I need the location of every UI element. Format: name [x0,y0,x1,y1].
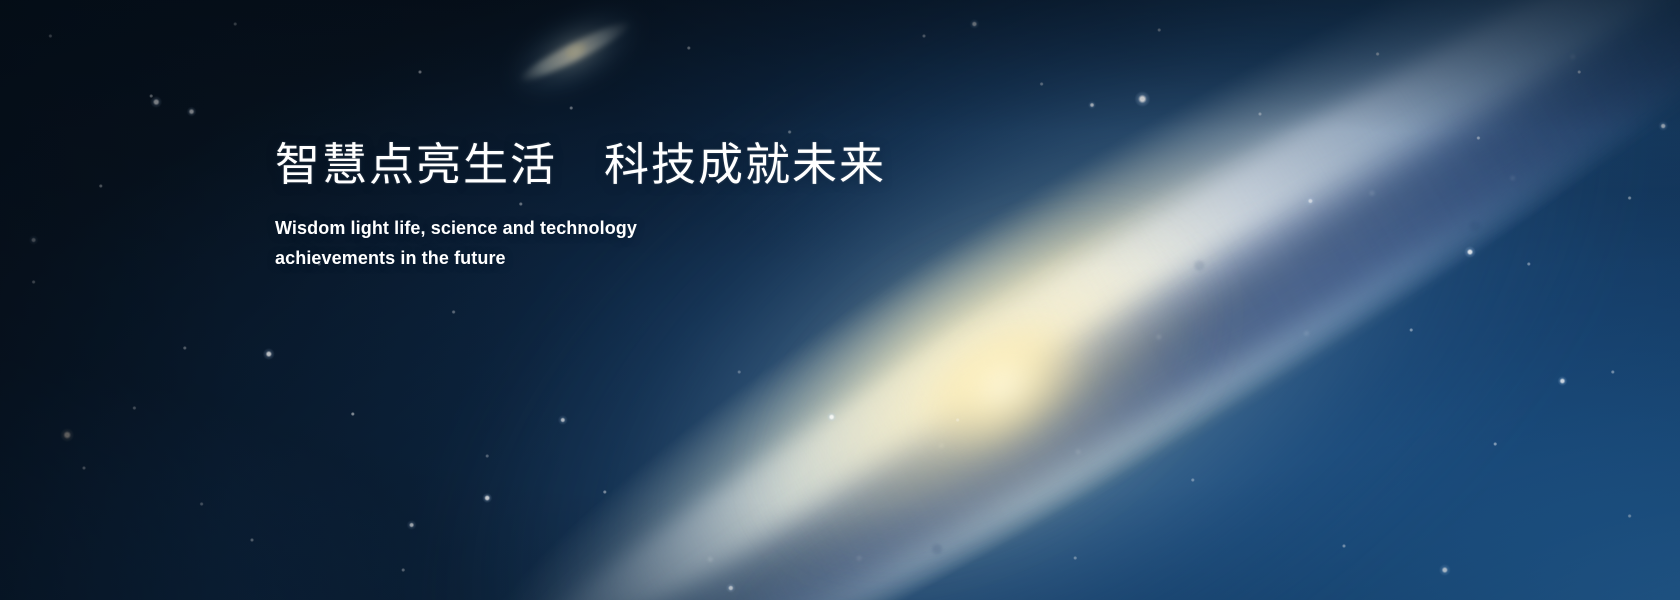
banner-copy: 智慧点亮生活 科技成就未来 Wisdom light life, science… [275,138,1035,273]
banner-subtitle: Wisdom light life, science and technolog… [275,213,665,273]
banner-headline: 智慧点亮生活 科技成就未来 [275,138,1035,193]
sky-vignette [0,0,1680,600]
hero-banner: 智慧点亮生活 科技成就未来 Wisdom light life, science… [0,0,1680,600]
